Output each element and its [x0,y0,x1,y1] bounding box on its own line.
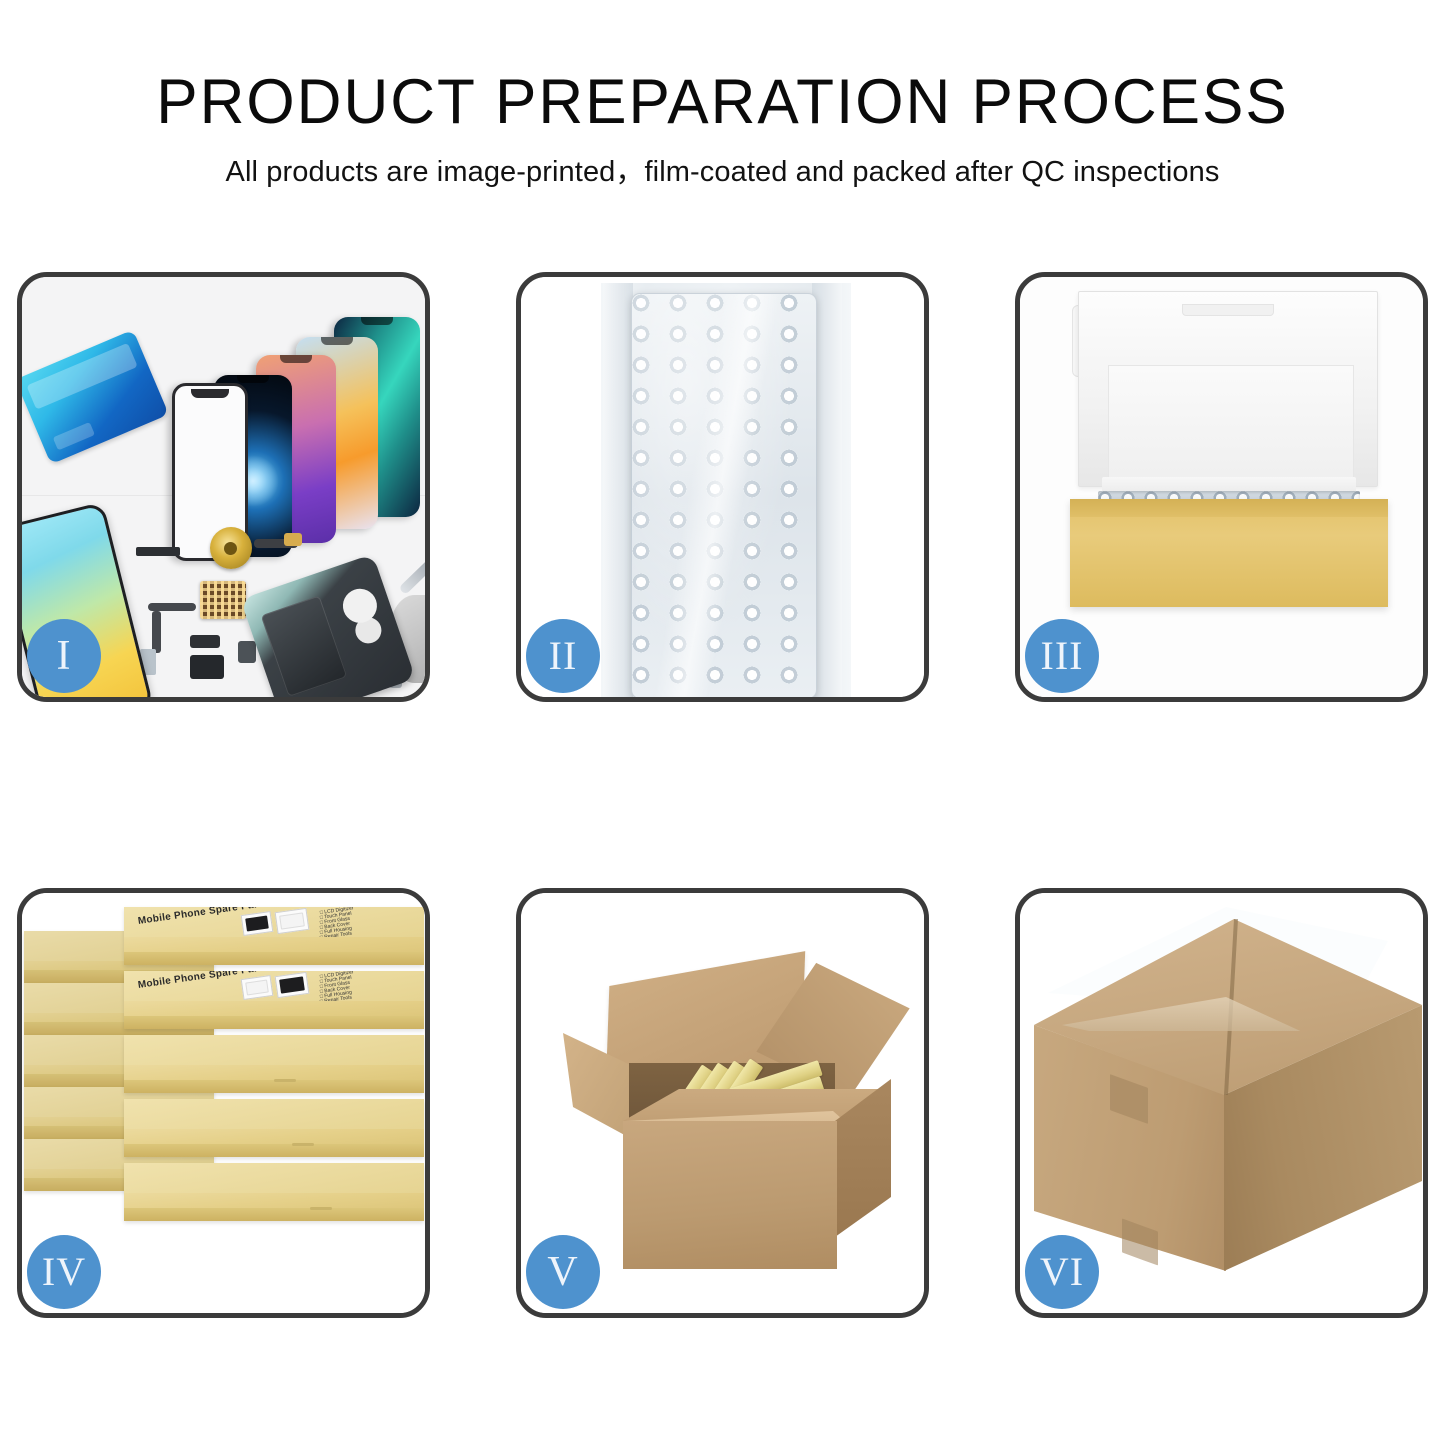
process-step-card-1[interactable]: I [17,272,430,702]
process-step-card-3[interactable]: III [1015,272,1428,702]
process-step-card-2[interactable]: II [516,272,929,702]
gold-box-top [124,1099,424,1129]
gold-box-top [124,1163,424,1193]
gold-box-edge [124,1208,424,1221]
capacitor-icon [190,635,220,648]
step-badge-1: I [27,619,101,693]
flex-cable-icon [148,603,196,611]
screen-thumbnail-light [279,912,305,929]
phone-screen-fan [152,299,425,549]
notch-icon [321,337,353,345]
film-seam-left [603,283,633,697]
speaker-module-icon [190,655,224,679]
process-step-grid: I II III [0,0,1445,1445]
gold-box-icon [124,1099,424,1157]
vibration-motor-icon [238,641,256,663]
open-shipping-carton-icon [567,941,891,1277]
gold-box-icon [124,1035,424,1093]
notch-icon [361,317,393,325]
gold-box-edge [124,1080,424,1093]
box-label-window [241,975,274,1000]
gold-box-edge [124,1016,424,1029]
notch-icon [237,375,269,383]
gold-box-base-icon [1070,499,1388,607]
box-label-artwork: Mobile Phone Spare Parts LCD Digitizer T… [124,907,424,937]
gold-box-icon [124,1163,424,1221]
gold-box-edge [124,1144,424,1157]
gold-box-top: Mobile Phone Spare Parts LCD Digitizer T… [124,971,424,1001]
staple-icon [292,1143,314,1146]
step-badge-6: VI [1025,1235,1099,1309]
notch-icon [280,355,312,363]
sealed-shipping-carton-icon [1034,919,1422,1285]
process-step-card-6[interactable]: VI [1015,888,1428,1318]
gold-box-top: Mobile Phone Spare Parts LCD Digitizer T… [124,907,424,937]
box-label-artwork: Mobile Phone Spare Parts LCD Digitizer T… [124,971,424,1001]
screen-thumbnail-dark [245,916,269,932]
staple-icon [310,1207,332,1210]
box-label-checklist: LCD Digitizer Touch Panel Front Glass Ba… [320,973,416,1001]
gold-box-labeled-icon: Mobile Phone Spare Parts LCD Digitizer T… [124,907,424,965]
step-badge-5: V [526,1235,600,1309]
box-label-window [275,972,310,998]
step-badge-2: II [526,619,600,693]
carton-front-face [623,1121,837,1269]
gold-box-top [124,1035,424,1065]
process-step-card-5[interactable]: V [516,888,929,1318]
gold-box-edge [124,952,424,965]
box-label-window [275,908,310,934]
ic-chip-icon [200,581,246,619]
flex-connector-icon [284,533,302,546]
step-badge-4: IV [27,1235,101,1309]
staple-icon [274,1079,296,1082]
screen-thumbnail-dark [279,976,305,993]
flex-cable-icon [152,611,161,653]
bubble-wrap-icon [631,293,817,697]
gold-box-labeled-icon: Mobile Phone Spare Parts LCD Digitizer T… [124,971,424,1029]
screen-thumbnail-light [245,980,269,996]
lid-tab [1182,304,1274,316]
speaker-coil-icon [210,527,252,569]
step-badge-3: III [1025,619,1099,693]
box-label-checklist: LCD Digitizer Touch Panel Front Glass Ba… [320,909,416,937]
process-step-card-4[interactable]: Mobile Phone Spare Parts LCD Digitizer T… [17,888,430,1318]
box-label-window [241,911,274,936]
earpiece-mesh-icon [136,547,180,556]
